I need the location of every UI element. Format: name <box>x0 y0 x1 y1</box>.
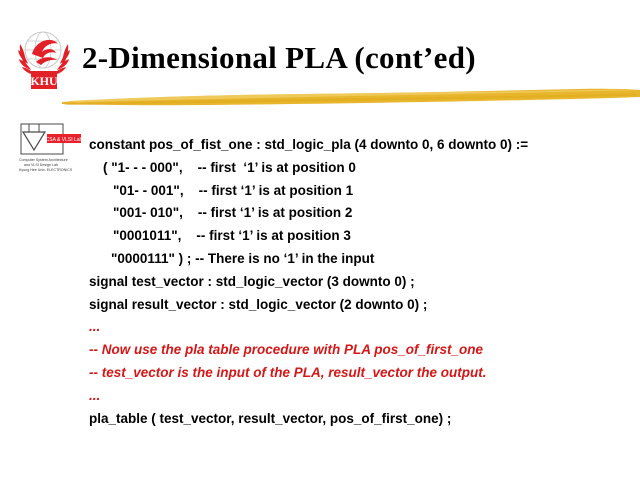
slide-canvas: KHU 2-Dimensional PLA (cont’ed) <box>0 0 640 480</box>
code-line: -- test_vector is the input of the PLA, … <box>89 362 619 385</box>
lab-badge-label: CSA & VLSI Lab <box>46 137 83 143</box>
code-line: "0001011", -- first ‘1’ is at position 3 <box>89 225 619 248</box>
code-line: ... <box>89 385 619 408</box>
code-line: constant pos_of_fist_one : std_logic_pla… <box>89 134 619 157</box>
code-line: ... <box>89 316 619 339</box>
code-line: "0000111" ) ; -- There is no ‘1’ in the … <box>89 248 619 271</box>
khu-crest-label: KHU <box>30 74 58 88</box>
yellow-brush-underline <box>58 86 640 108</box>
khu-crest-icon: KHU <box>12 24 76 90</box>
lab-caption-line-2: and VLSI Design Lab <box>24 163 58 167</box>
code-line: signal result_vector : std_logic_vector … <box>89 294 619 317</box>
code-line: "001- 010", -- first ‘1’ is at position … <box>89 202 619 225</box>
code-line: ( "1- - - 000", -- first ‘1’ is at posit… <box>89 157 619 180</box>
code-block: constant pos_of_fist_one : std_logic_pla… <box>89 134 619 430</box>
page-title: 2-Dimensional PLA (cont’ed) <box>82 40 622 76</box>
code-line: signal test_vector : std_logic_vector (3… <box>89 271 619 294</box>
lab-logo-icon: CSA & VLSI Lab Computer System Architect… <box>15 122 89 174</box>
code-line: "01- - 001", -- first ‘1’ is at position… <box>89 180 619 203</box>
code-line: pla_table ( test_vector, result_vector, … <box>89 408 619 431</box>
code-line: -- Now use the pla table procedure with … <box>89 339 619 362</box>
lab-caption-line-1: Computer System Architecture <box>19 158 68 162</box>
lab-caption-line-3: Kyung Hee Univ. ELECTRONICS <box>19 168 73 172</box>
